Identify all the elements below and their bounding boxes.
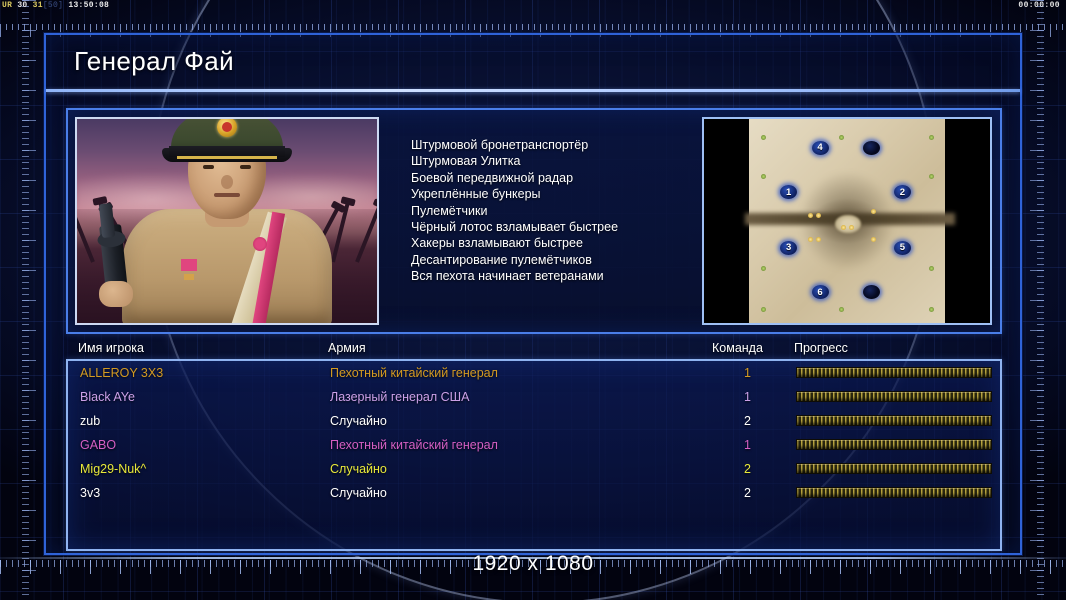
map-resource-icon xyxy=(761,135,766,140)
title-bar: Генерал Фай xyxy=(46,37,1020,92)
ability-item: Десантирование пулемётчиков xyxy=(411,252,702,268)
table-row[interactable]: zubСлучайно2 xyxy=(68,409,1000,433)
map-supply-icon xyxy=(871,237,876,242)
title-divider xyxy=(46,89,1020,92)
player-army: Случайно xyxy=(330,486,387,500)
general-nose xyxy=(221,175,233,189)
player-team: 2 xyxy=(744,486,751,500)
player-name: Black AYe xyxy=(80,390,135,404)
general-hand xyxy=(99,281,133,307)
column-header-progress: Прогресс xyxy=(794,341,848,355)
table-row[interactable]: GABOПехотный китайский генерал1 xyxy=(68,433,1000,457)
player-army: Пехотный китайский генерал xyxy=(330,438,498,452)
player-progress-bar xyxy=(796,463,992,474)
player-army: Лазерный генерал США xyxy=(330,390,469,404)
map-start-position-1[interactable]: 1 xyxy=(780,185,797,199)
general-cap-gold-trim xyxy=(177,156,277,159)
map-resource-icon xyxy=(929,135,934,140)
ability-item: Боевой передвижной радар xyxy=(411,170,702,186)
map-start-position-5[interactable]: 5 xyxy=(894,241,911,255)
general-medal xyxy=(253,237,267,251)
general-medal xyxy=(181,259,197,271)
map-start-position-empty[interactable] xyxy=(863,141,880,155)
ability-item: Хакеры взламывают быстрее xyxy=(411,235,702,251)
player-progress-bar xyxy=(796,487,992,498)
map-resource-icon xyxy=(839,307,844,312)
player-team: 2 xyxy=(744,414,751,428)
map-start-position-2[interactable]: 2 xyxy=(894,185,911,199)
game-lobby-screen: UR 30 31[50] 13:50:08 00:00:00 Генерал Ф… xyxy=(0,0,1066,600)
player-team: 1 xyxy=(744,390,751,404)
ruler-left xyxy=(22,0,36,600)
general-mouth xyxy=(214,193,240,197)
map-resource-icon xyxy=(929,174,934,179)
map-center-oasis xyxy=(835,215,860,233)
map-start-position-empty[interactable] xyxy=(863,285,880,299)
table-row[interactable]: 3v3Случайно2 xyxy=(68,481,1000,505)
player-progress-bar xyxy=(796,391,992,402)
resolution-label: 1920 x 1080 xyxy=(0,552,1066,576)
hud-tag: UR xyxy=(2,1,12,10)
players-table: ALLEROY 3X3Пехотный китайский генерал1Bl… xyxy=(66,359,1002,551)
map-supply-icon xyxy=(816,237,821,242)
page-title: Генерал Фай xyxy=(74,46,234,77)
player-name: ALLEROY 3X3 xyxy=(80,366,163,380)
player-name: GABO xyxy=(80,438,116,452)
player-team: 1 xyxy=(744,366,751,380)
player-progress-bar xyxy=(796,367,992,378)
player-progress-bar xyxy=(796,439,992,450)
table-row[interactable]: Black AYeЛазерный генерал США1 xyxy=(68,385,1000,409)
general-eye xyxy=(203,165,214,169)
ruler-right xyxy=(1030,0,1044,600)
map-resource-icon xyxy=(839,135,844,140)
map-supply-icon xyxy=(816,213,821,218)
general-portrait xyxy=(75,117,379,325)
map-resource-icon xyxy=(761,307,766,312)
map-supply-icon xyxy=(871,209,876,214)
general-info-panel: Штурмовой бронетранспортёр Штурмовая Ули… xyxy=(66,108,1002,334)
map-start-position-3[interactable]: 3 xyxy=(780,241,797,255)
general-eye xyxy=(240,165,251,169)
ability-item: Вся пехота начинает ветеранами xyxy=(411,268,702,284)
column-header-team: Команда xyxy=(712,341,763,355)
player-progress-bar xyxy=(796,415,992,426)
player-name: zub xyxy=(80,414,100,428)
hud-clock: 13:50:08 xyxy=(68,1,109,10)
ability-item: Укреплённые бункеры xyxy=(411,186,702,202)
map-resource-icon xyxy=(929,307,934,312)
map-start-position-6[interactable]: 6 xyxy=(812,285,829,299)
player-army: Пехотный китайский генерал xyxy=(330,366,498,380)
ability-item: Чёрный лотос взламывает быстрее xyxy=(411,219,702,235)
player-army: Случайно xyxy=(330,414,387,428)
map-preview[interactable]: 412356 xyxy=(702,117,992,325)
hud-value-2: 31 xyxy=(33,1,43,10)
map-terrain-image: 412356 xyxy=(749,119,945,323)
map-resource-icon xyxy=(929,266,934,271)
table-header-row: Имя игрока Армия Команда Прогресс xyxy=(66,341,1002,359)
map-start-position-4[interactable]: 4 xyxy=(812,141,829,155)
player-team: 2 xyxy=(744,462,751,476)
player-name: Mig29-Nuk^ xyxy=(80,462,146,476)
hud-status-left: UR 30 31[50] 13:50:08 xyxy=(2,1,109,10)
map-resource-icon xyxy=(761,266,766,271)
table-row[interactable]: ALLEROY 3X3Пехотный китайский генерал1 xyxy=(68,361,1000,385)
column-header-name: Имя игрока xyxy=(78,341,144,355)
hud-timer-right: 00:00:00 xyxy=(1018,1,1060,10)
general-abilities-list: Штурмовой бронетранспортёр Штурмовая Ули… xyxy=(379,110,702,332)
ability-item: Штурмовой бронетранспортёр xyxy=(411,137,702,153)
ability-item: Пулемётчики xyxy=(411,203,702,219)
player-army: Случайно xyxy=(330,462,387,476)
player-team: 1 xyxy=(744,438,751,452)
map-resource-icon xyxy=(761,174,766,179)
table-row[interactable]: Mig29-Nuk^Случайно2 xyxy=(68,457,1000,481)
column-header-army: Армия xyxy=(328,341,366,355)
player-name: 3v3 xyxy=(80,486,100,500)
hud-value-1: 30 xyxy=(17,1,27,10)
map-supply-icon xyxy=(808,213,813,218)
ability-item: Штурмовая Улитка xyxy=(411,153,702,169)
cap-emblem-icon xyxy=(217,117,237,137)
hud-value-3: [50] xyxy=(43,1,63,10)
map-supply-icon xyxy=(849,225,854,230)
